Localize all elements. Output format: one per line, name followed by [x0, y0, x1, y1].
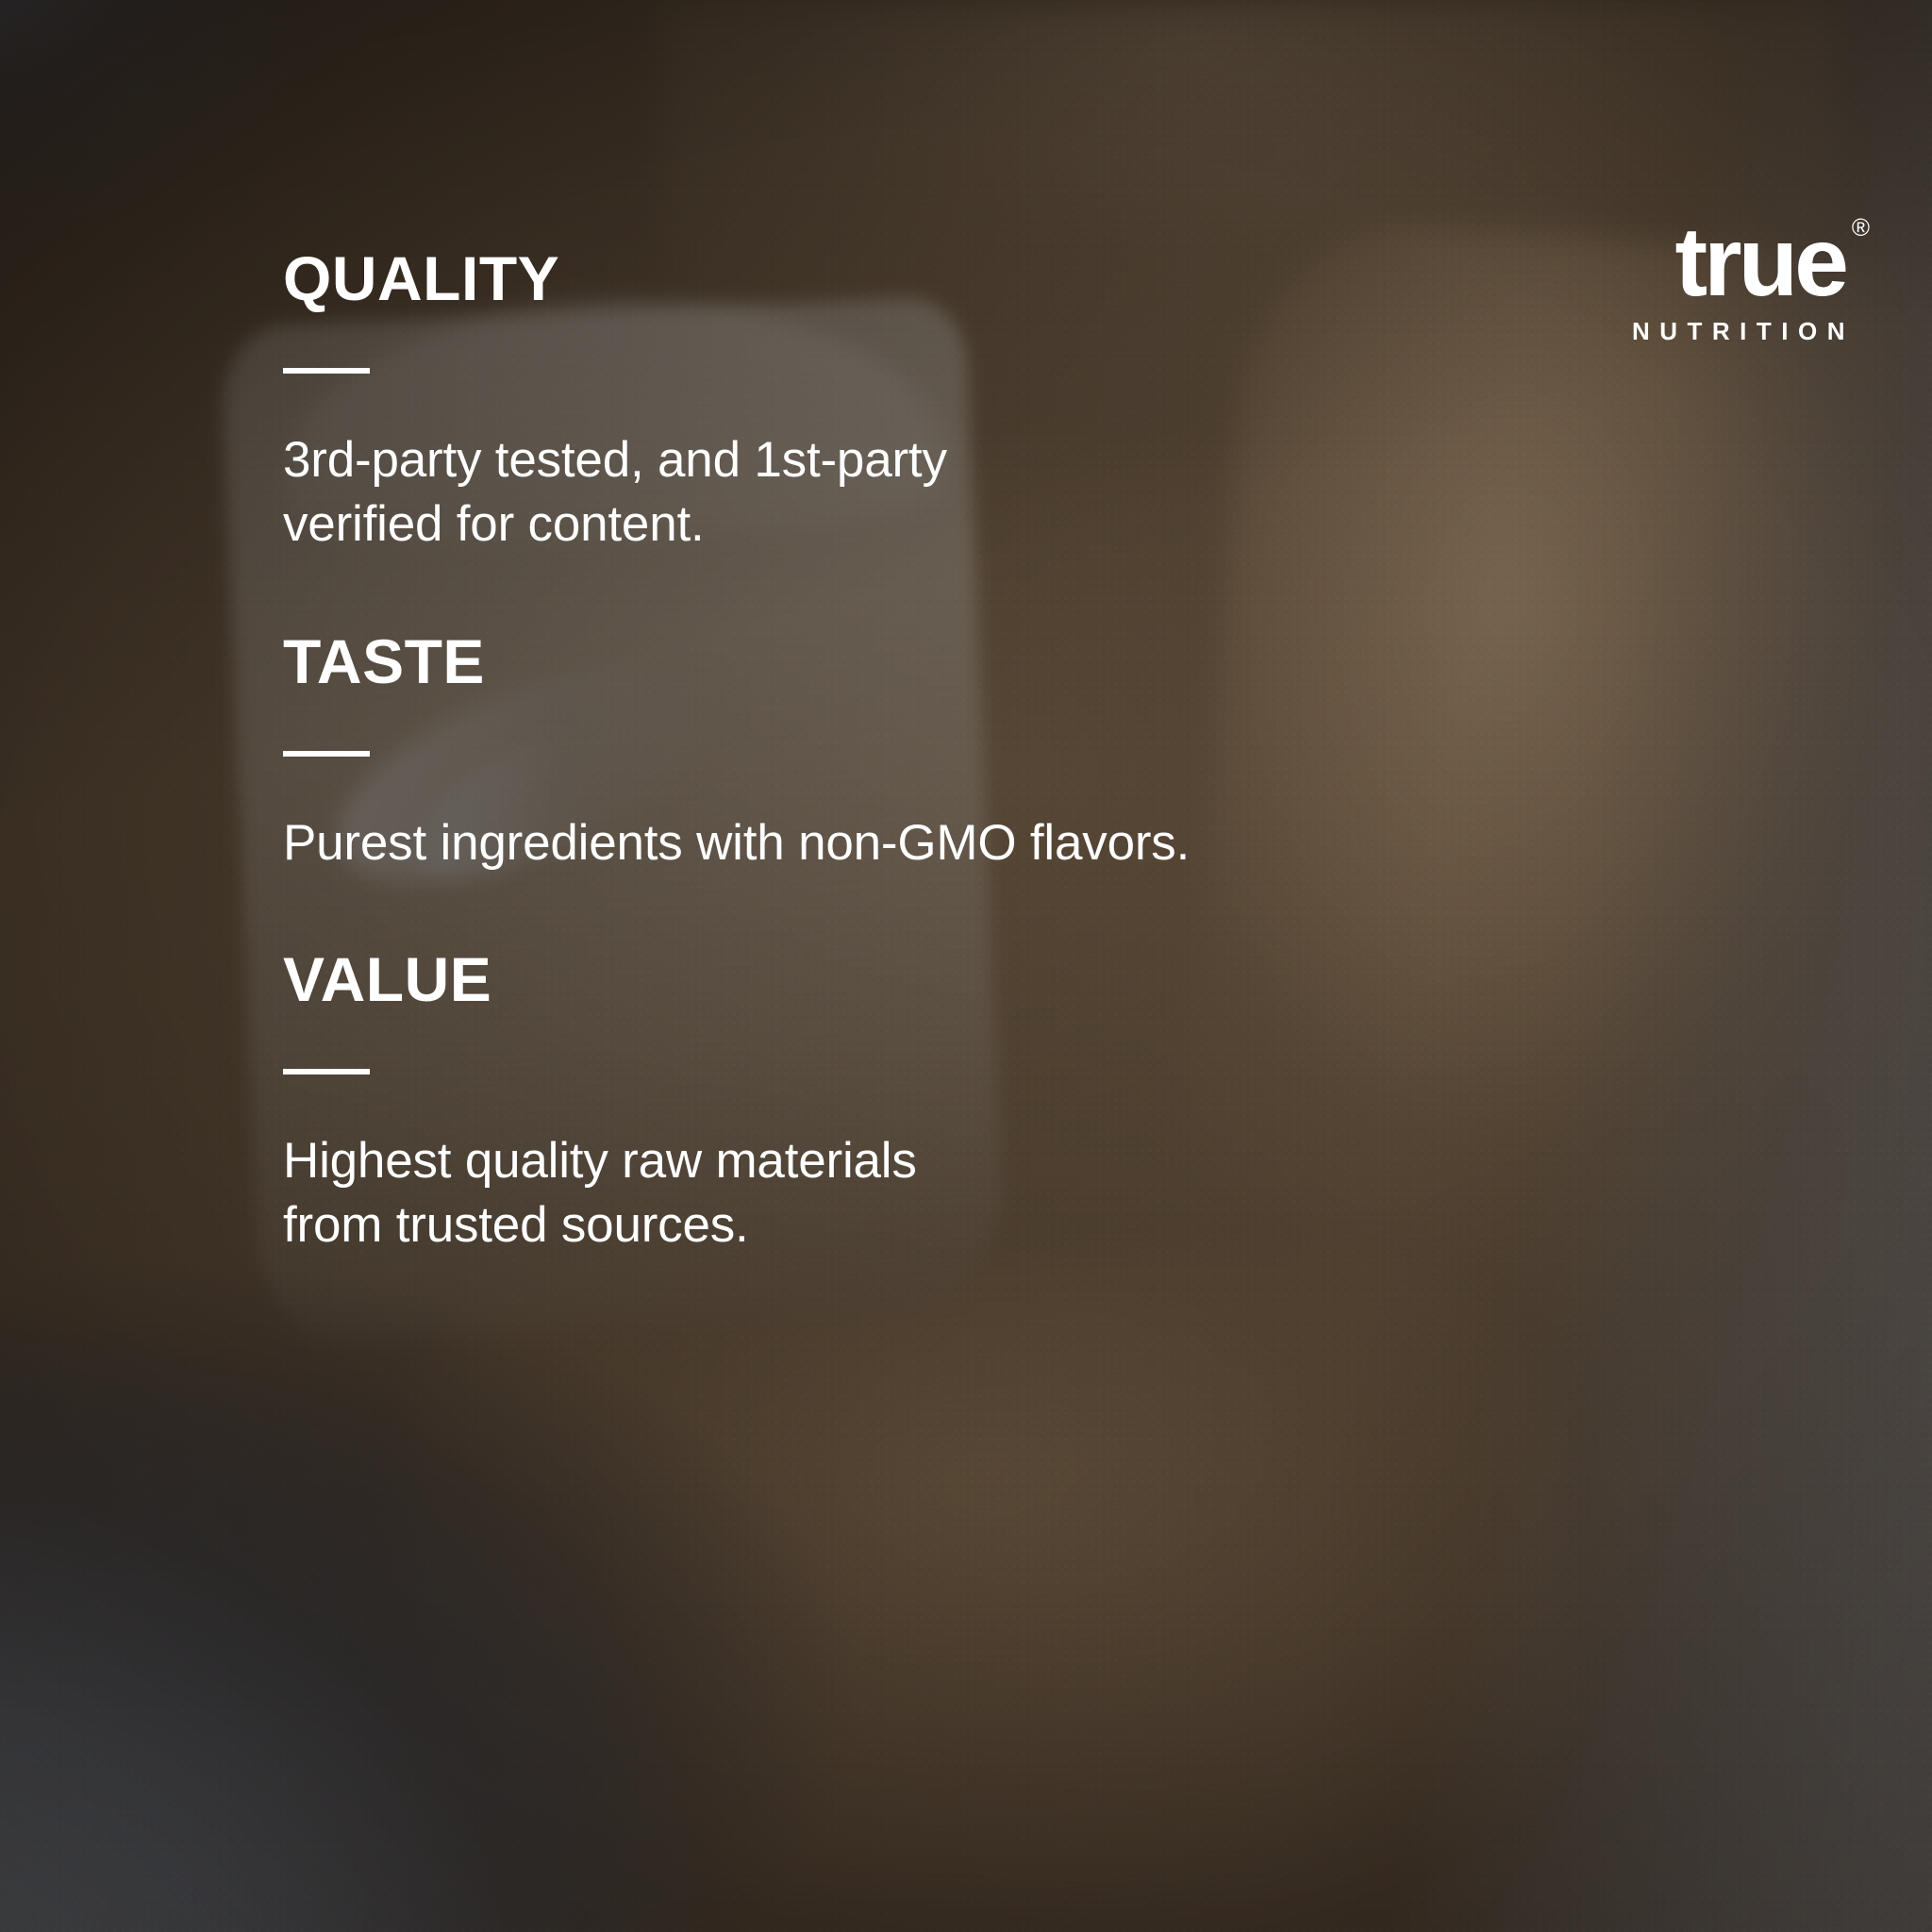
- logo-wordmark: true®: [1675, 219, 1845, 308]
- section-body: Purest ingredients with non-GMO flavors.: [283, 811, 1462, 875]
- section-divider: [283, 1069, 370, 1074]
- section-title: TASTE: [283, 630, 1462, 692]
- section-body: Highest quality raw materials from trust…: [283, 1129, 1462, 1257]
- feature-section-taste: TASTE Purest ingredients with non-GMO fl…: [283, 630, 1462, 875]
- logo-subtitle: NUTRITION: [1632, 319, 1855, 343]
- logo-wordmark-text: true: [1675, 208, 1845, 317]
- feature-section-value: VALUE Highest quality raw materials from…: [283, 948, 1462, 1257]
- feature-list: QUALITY 3rd-party tested, and 1st-party …: [283, 247, 1462, 1257]
- promo-graphic: true® NUTRITION QUALITY 3rd-party tested…: [0, 0, 1932, 1932]
- section-body: 3rd-party tested, and 1st-party verified…: [283, 428, 1462, 557]
- section-divider: [283, 751, 370, 757]
- section-title: VALUE: [283, 948, 1462, 1010]
- section-divider: [283, 368, 370, 374]
- feature-section-quality: QUALITY 3rd-party tested, and 1st-party …: [283, 247, 1462, 557]
- section-title: QUALITY: [283, 247, 1462, 309]
- brand-logo: true® NUTRITION: [1632, 219, 1845, 343]
- registered-trademark-icon: ®: [1852, 217, 1870, 239]
